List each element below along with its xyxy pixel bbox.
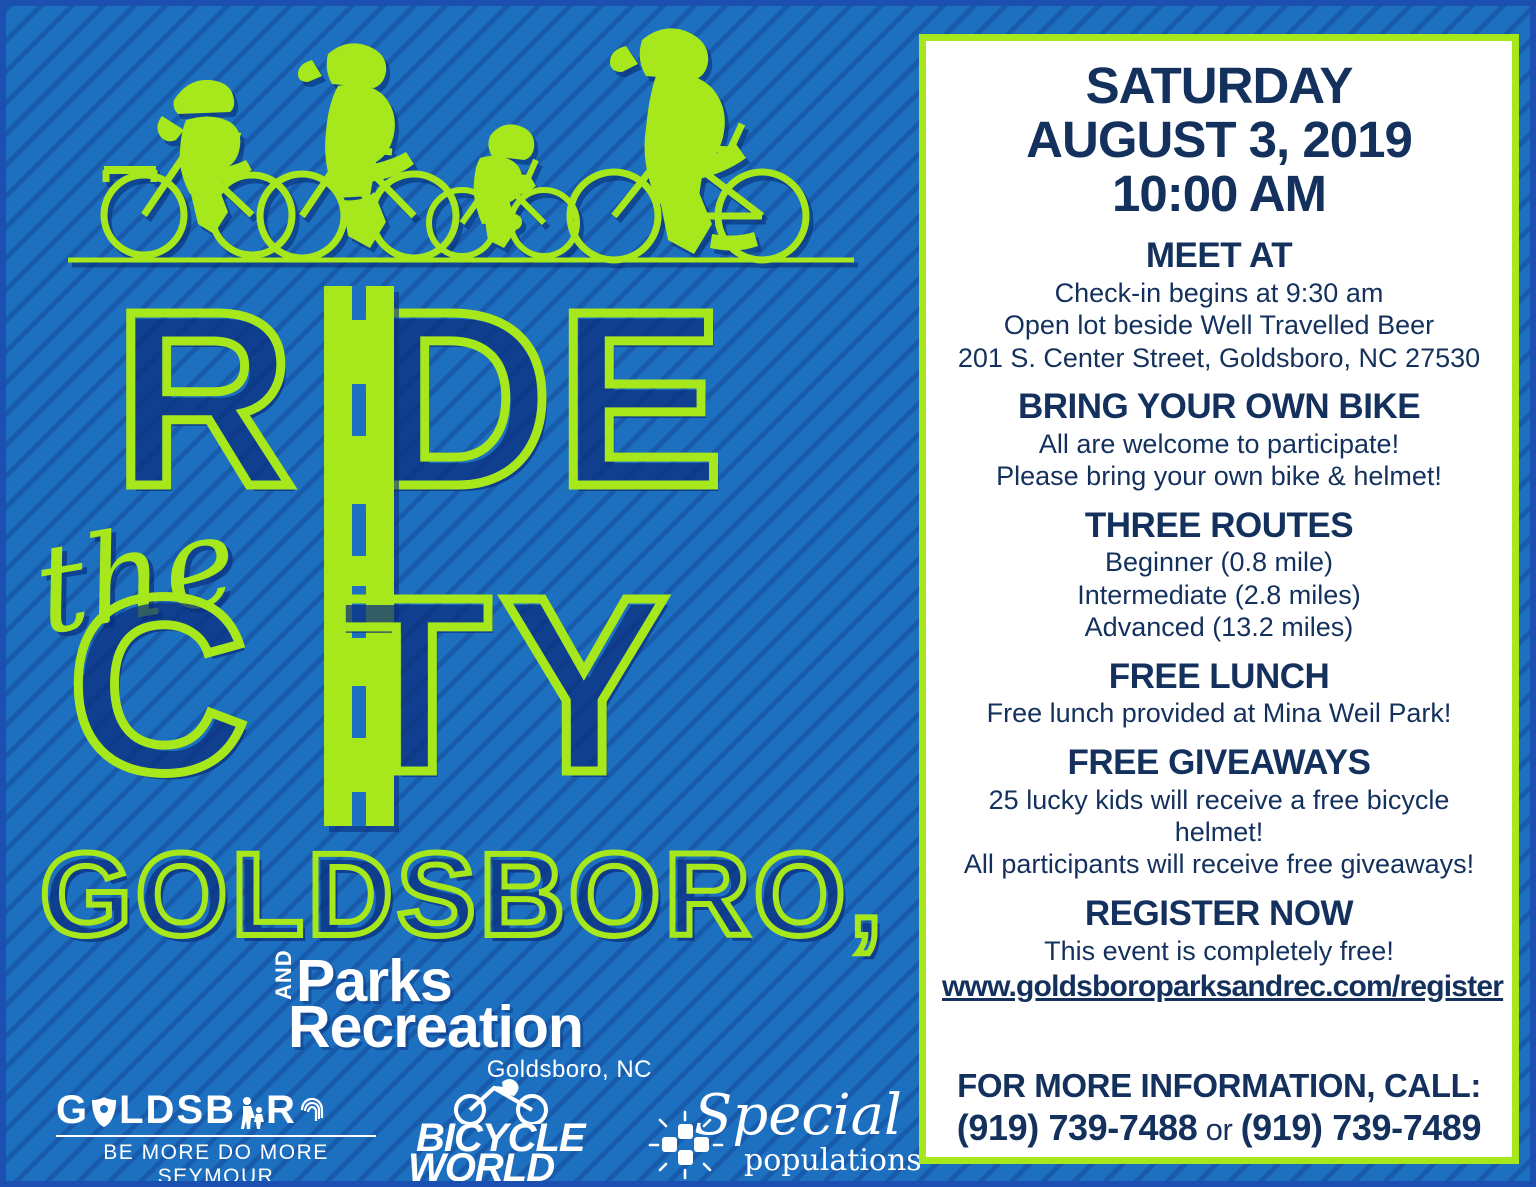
- special-populations-line1: Special: [694, 1088, 902, 1144]
- gpd-divider-top: [56, 1135, 376, 1137]
- section-line: Please bring your own bike & helmet!: [942, 460, 1496, 492]
- gpd-wordmark: G LDSB R: [56, 1090, 376, 1130]
- cyclists-illustration: [66, 20, 856, 266]
- section-line: Check-in begins at 9:30 am: [942, 277, 1496, 309]
- phone-number-1[interactable]: (919) 739-7488: [957, 1107, 1198, 1148]
- section-line: Beginner (0.8 mile): [942, 546, 1496, 578]
- parks-rec-and: AND: [271, 949, 297, 1000]
- section-line: All are welcome to participate!: [942, 428, 1496, 460]
- bicycle-world-line2: WORLD: [408, 1148, 554, 1187]
- section-heading: BRING YOUR OWN BIKE: [942, 388, 1496, 426]
- gpd-letters-r: R: [266, 1090, 297, 1130]
- section-line: Advanced (13.2 miles): [942, 611, 1496, 643]
- gpd-tagline: BE MORE DO MORE SEYMOUR: [56, 1141, 376, 1187]
- left-column: the R DE C TY GOLDSBORO, NC Parks AND Re…: [6, 6, 906, 1187]
- headline-line-3: 10:00 AM: [942, 167, 1496, 221]
- headline-line-2: AUGUST 3, 2019: [942, 113, 1496, 167]
- section-line: 25 lucky kids will receive a free bicycl…: [942, 784, 1496, 849]
- section-line: 201 S. Center Street, Goldsboro, NC 2753…: [942, 342, 1496, 374]
- event-headline: SATURDAY AUGUST 3, 2019 10:00 AM: [942, 59, 1496, 221]
- section-line: Intermediate (2.8 miles): [942, 579, 1496, 611]
- section-meet-at: MEET AT Check-in begins at 9:30 am Open …: [942, 237, 1496, 374]
- four-cyclists-silhouette-icon: [66, 20, 856, 266]
- fingerprint-icon: [297, 1095, 327, 1129]
- parks-and-recreation-logo: Parks AND Recreation Goldsboro, NC: [268, 952, 648, 1072]
- event-details-panel: SATURDAY AUGUST 3, 2019 10:00 AM MEET AT…: [919, 34, 1519, 1164]
- section-heading: THREE ROUTES: [942, 507, 1496, 545]
- gpd-letters-g: G: [56, 1090, 89, 1130]
- section-heading: MEET AT: [942, 237, 1496, 275]
- title-ride: R DE: [114, 274, 727, 524]
- call-label: FOR MORE INFORMATION, CALL:: [936, 1067, 1502, 1105]
- section-three-routes: THREE ROUTES Beginner (0.8 mile) Interme…: [942, 507, 1496, 644]
- section-line: This event is completely free!: [942, 935, 1496, 967]
- registration-url-link[interactable]: www.goldsboroparksandrec.com/register: [942, 970, 1496, 1004]
- bicycle-world-logo: BICYCLE WORLD Goldsboro, NC: [402, 1082, 622, 1187]
- section-heading: REGISTER NOW: [942, 895, 1496, 933]
- section-line: All participants will receive free givea…: [942, 848, 1496, 880]
- police-shield-icon: [89, 1095, 119, 1129]
- section-free-giveaways: FREE GIVEAWAYS 25 lucky kids will receiv…: [942, 744, 1496, 881]
- section-bring-your-own-bike: BRING YOUR OWN BIKE All are welcome to p…: [942, 388, 1496, 493]
- pedestrian-family-icon: [236, 1095, 266, 1129]
- section-free-lunch: FREE LUNCH Free lunch provided at Mina W…: [942, 658, 1496, 730]
- goldsboro-police-department-logo: G LDSB R BE MORE DO MORE SEYMOUR: [56, 1090, 376, 1187]
- call-phone-numbers: (919) 739-7488 or (919) 739-7489: [936, 1107, 1502, 1149]
- gpd-letters-ldsb: LDSB: [119, 1090, 236, 1130]
- contact-call-box: FOR MORE INFORMATION, CALL: (919) 739-74…: [926, 1067, 1512, 1149]
- special-populations-logo: Special populations: [640, 1084, 880, 1187]
- parks-rec-line2: Recreation: [288, 998, 583, 1057]
- poster-canvas: the R DE C TY GOLDSBORO, NC Parks AND Re…: [0, 0, 1536, 1187]
- section-heading: FREE GIVEAWAYS: [942, 744, 1496, 782]
- headline-line-1: SATURDAY: [942, 59, 1496, 113]
- phone-number-2[interactable]: (919) 739-7489: [1241, 1107, 1482, 1148]
- sponsor-logo-row: G LDSB R BE MORE DO MORE SEYMOUR: [32, 1088, 882, 1187]
- section-line: Open lot beside Well Travelled Beer: [942, 309, 1496, 341]
- section-line: Free lunch provided at Mina Weil Park!: [942, 697, 1496, 729]
- special-populations-line2: populations: [744, 1146, 922, 1176]
- title-city: C TY: [68, 560, 677, 810]
- section-heading: FREE LUNCH: [942, 658, 1496, 696]
- phone-separator: or: [1197, 1112, 1240, 1147]
- section-register-now: REGISTER NOW This event is completely fr…: [942, 895, 1496, 1004]
- title-block: the R DE C TY GOLDSBORO, NC: [6, 264, 906, 944]
